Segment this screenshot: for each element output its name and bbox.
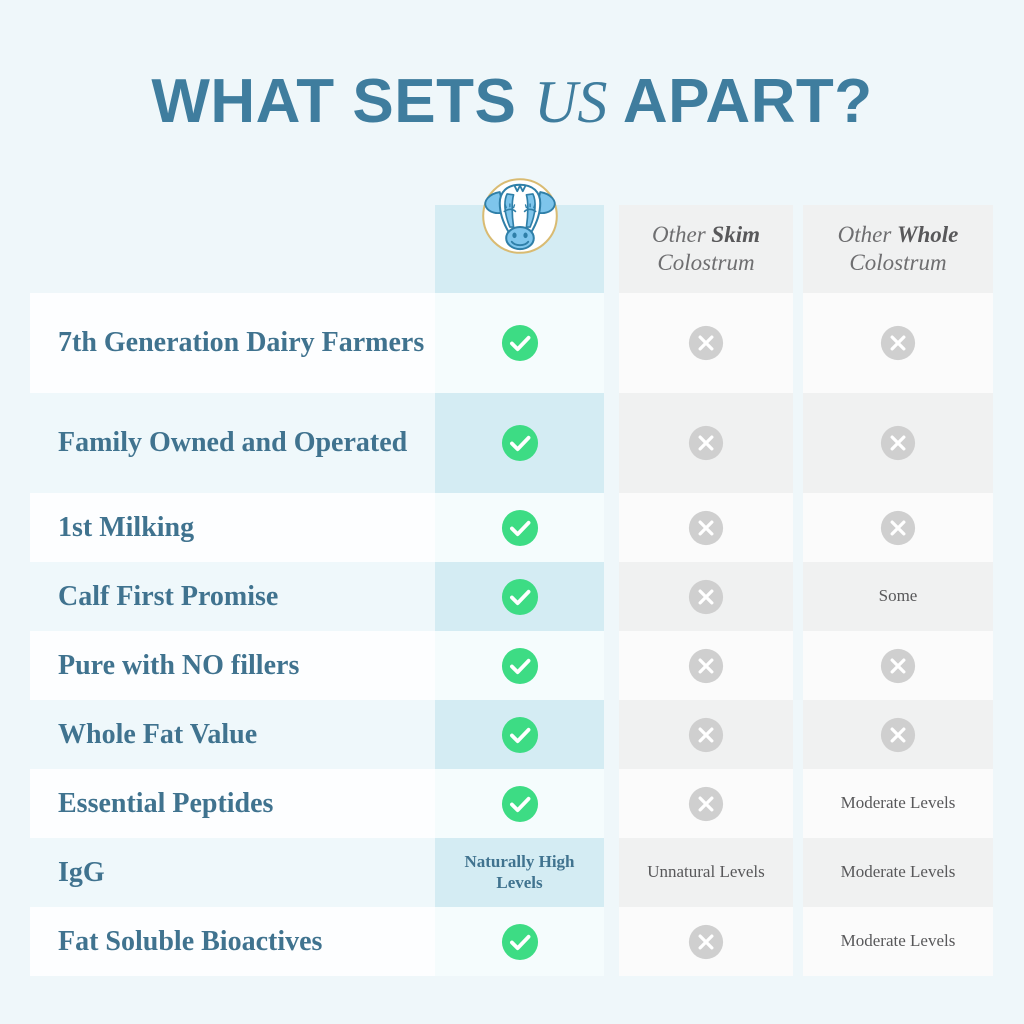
row-label-cell: Whole Fat Value [30,700,435,769]
cell-brand [435,293,604,393]
cell-brand [435,769,604,838]
table-body: 7th Generation Dairy FarmersFamily Owned… [30,293,988,976]
comparison-table: Other SkimColostrum Other WholeColostrum… [30,205,988,976]
cell-value-text: Moderate Levels [835,931,962,951]
header-cell-feature [30,205,435,293]
cell-other-skim [619,631,793,700]
row-label-cell: 1st Milking [30,493,435,562]
table-row: Family Owned and Operated [30,393,988,493]
cell-other-whole [803,293,993,393]
x-circle-icon [688,325,724,361]
check-circle-icon [501,716,539,754]
cell-other-skim [619,562,793,631]
row-label-cell: Fat Soluble Bioactives [30,907,435,976]
cell-brand [435,700,604,769]
row-label-cell: Pure with NO fillers [30,631,435,700]
table-row: Essential PeptidesModerate Levels [30,769,988,838]
page-title-before: WHAT SETS [151,67,534,136]
page-title-emphasis: US [534,69,607,135]
header-whole-suffix: Colostrum [849,250,946,275]
header-cell-brand [435,205,604,293]
row-label-cell: Family Owned and Operated [30,393,435,493]
cell-value-text: Unnatural Levels [641,862,771,882]
x-circle-icon [880,510,916,546]
row-label: Fat Soluble Bioactives [58,926,322,958]
cell-value-text: Moderate Levels [835,793,962,813]
cell-other-whole: Moderate Levels [803,907,993,976]
x-circle-icon [880,325,916,361]
x-circle-icon [688,924,724,960]
cell-value-text: Some [873,586,924,606]
cell-other-skim [619,700,793,769]
cell-other-whole: Some [803,562,993,631]
check-circle-icon [501,923,539,961]
table-row: Whole Fat Value [30,700,988,769]
page-title-after: APART? [607,67,872,136]
cell-value-text: Moderate Levels [835,862,962,882]
page-title: WHAT SETS US APART? [0,66,1024,137]
row-label: Calf First Promise [58,581,278,613]
cell-other-whole: Moderate Levels [803,769,993,838]
table-row: IgGNaturally High LevelsUnnatural Levels… [30,838,988,907]
header-skim-prefix: Other [652,222,711,247]
cell-other-whole [803,700,993,769]
check-circle-icon [501,578,539,616]
row-label-cell: IgG [30,838,435,907]
row-label: IgG [58,857,105,889]
x-circle-icon [880,648,916,684]
x-circle-icon [880,717,916,753]
cell-brand [435,562,604,631]
check-circle-icon [501,424,539,462]
x-circle-icon [688,579,724,615]
cell-other-skim [619,907,793,976]
check-circle-icon [501,647,539,685]
header-whole-bold: Whole [897,222,958,247]
row-label: Family Owned and Operated [58,427,407,459]
check-circle-icon [501,324,539,362]
cell-other-whole [803,493,993,562]
cell-other-skim: Unnatural Levels [619,838,793,907]
cell-other-skim [619,493,793,562]
header-cell-other-skim: Other SkimColostrum [619,205,793,293]
row-label-cell: 7th Generation Dairy Farmers [30,293,435,393]
row-label-cell: Essential Peptides [30,769,435,838]
cell-other-skim [619,293,793,393]
cell-value-text: Naturally High Levels [435,852,604,893]
check-circle-icon [501,509,539,547]
cell-other-whole [803,631,993,700]
row-label: 1st Milking [58,512,194,544]
cow-head-logo-icon [474,170,566,262]
row-label: Pure with NO fillers [58,650,299,682]
table-row: 7th Generation Dairy Farmers [30,293,988,393]
table-row: Fat Soluble BioactivesModerate Levels [30,907,988,976]
x-circle-icon [688,717,724,753]
cell-other-skim [619,769,793,838]
check-circle-icon [501,785,539,823]
cell-brand [435,631,604,700]
row-label: Whole Fat Value [58,719,257,751]
table-row: Calf First PromiseSome [30,562,988,631]
table-row: 1st Milking [30,493,988,562]
x-circle-icon [880,425,916,461]
cell-other-whole [803,393,993,493]
cell-other-skim [619,393,793,493]
row-label-cell: Calf First Promise [30,562,435,631]
x-circle-icon [688,425,724,461]
x-circle-icon [688,648,724,684]
cell-brand: Naturally High Levels [435,838,604,907]
header-cell-other-whole: Other WholeColostrum [803,205,993,293]
table-header-row: Other SkimColostrum Other WholeColostrum [30,205,988,293]
x-circle-icon [688,510,724,546]
cell-brand [435,393,604,493]
header-skim-suffix: Colostrum [657,250,754,275]
row-label: Essential Peptides [58,788,273,820]
cell-brand [435,907,604,976]
header-other-whole-text: Other WholeColostrum [838,221,959,277]
cell-brand [435,493,604,562]
cell-other-whole: Moderate Levels [803,838,993,907]
header-whole-prefix: Other [838,222,897,247]
header-skim-bold: Skim [711,222,760,247]
table-row: Pure with NO fillers [30,631,988,700]
row-label: 7th Generation Dairy Farmers [58,327,424,359]
header-other-skim-text: Other SkimColostrum [652,221,760,277]
x-circle-icon [688,786,724,822]
